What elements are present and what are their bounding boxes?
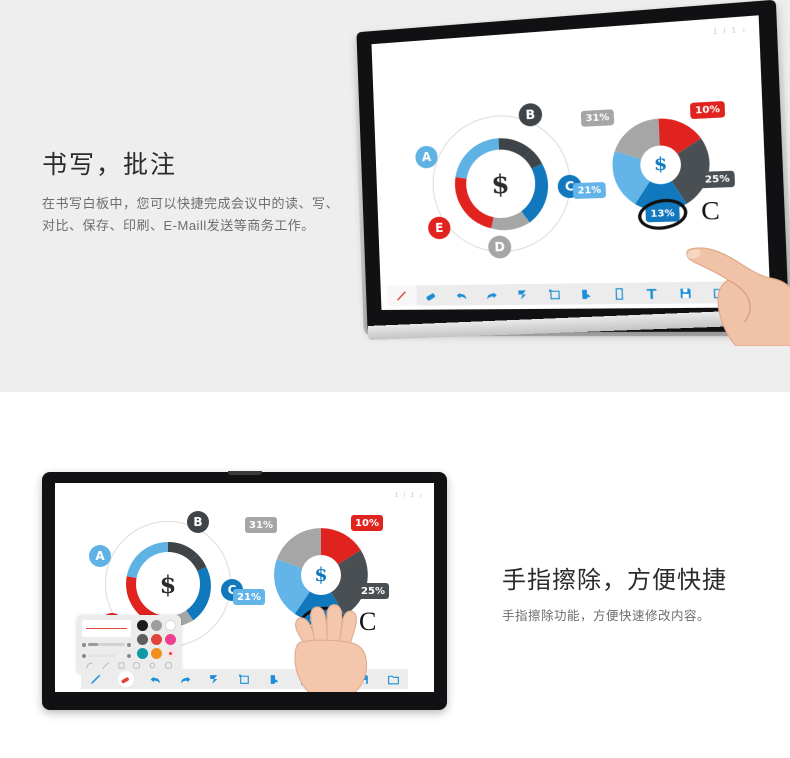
text-tool-top[interactable] [635, 282, 669, 304]
pointing-hand-top [678, 228, 790, 346]
page-current-bottom: 1 [395, 492, 401, 499]
lasso-icon [208, 673, 221, 686]
polygon-icon [547, 287, 561, 301]
page-separator-top: / [723, 27, 728, 35]
shape-tool-top[interactable] [538, 283, 571, 304]
page-current-top: 1 [713, 28, 720, 36]
pen-settings-top-row [77, 615, 181, 661]
eraser-tool-top[interactable] [416, 285, 447, 306]
color-swatch-orange[interactable] [151, 648, 162, 659]
redo-icon [485, 288, 499, 302]
eraser-icon [120, 674, 131, 685]
pen-tool-bottom[interactable] [81, 669, 111, 689]
whiteboard-canvas-bottom[interactable]: 1 / 1 › [55, 483, 434, 692]
pie-label-31-bottom: 31% [245, 517, 277, 533]
pie-label-10-top: 10% [690, 101, 725, 119]
color-swatch-gray[interactable] [151, 620, 162, 631]
shape-tool-bottom[interactable] [230, 669, 260, 689]
section-body-writing-line1: 在书写白板中，您可以快捷完成会议中的读、写、 [42, 193, 339, 215]
page-separator-bottom: / [403, 492, 407, 499]
next-page-chevron-icon-bottom[interactable]: › [419, 491, 424, 500]
pie-label-10-bottom: 10% [351, 515, 383, 531]
stroke-width-slider-end [127, 643, 131, 647]
page-total-top: 1 [731, 27, 738, 35]
pie-label-21-top: 21% [573, 182, 606, 199]
lasso-icon [516, 288, 530, 302]
donut-badge-b-bottom: B [187, 511, 209, 533]
donut-badge-d-top: D [488, 235, 512, 258]
stroke-width-slider[interactable] [82, 641, 131, 648]
section-body-writing-line2: 对比、保存、印刷、E-Maill发送等商务工作。 [42, 215, 339, 237]
interactive-display-bottom: 1 / 1 › [42, 472, 447, 710]
pen-tool-top[interactable] [386, 285, 416, 306]
section-finger-erase: 手指擦除，方便快捷 手指擦除功能，方便快速修改内容。 1 / 1 › [0, 392, 790, 758]
page-root: 书写，批注 在书写白板中，您可以快捷完成会议中的读、写、 对比、保存、印刷、E-… [0, 0, 790, 758]
pen-icon [395, 289, 408, 302]
undo-icon [149, 673, 162, 686]
fill-tool-top[interactable] [570, 283, 603, 304]
pie-center-dollar-bottom: $ [301, 555, 341, 595]
page-indicator-top: 1 / 1 › [713, 25, 748, 37]
display-screen-bottom[interactable]: 1 / 1 › [55, 483, 434, 692]
stroke-preview-line [86, 628, 127, 630]
pen-icon [89, 673, 102, 686]
section-title-erase: 手指擦除，方便快捷 [502, 560, 727, 595]
color-swatch-grid[interactable] [136, 620, 176, 659]
section-writing-annotation: 书写，批注 在书写白板中，您可以快捷完成会议中的读、写、 对比、保存、印刷、E-… [0, 0, 790, 392]
pie-label-25-top: 25% [700, 171, 735, 189]
stroke-opacity-slider[interactable] [82, 652, 131, 659]
color-swatch-light-pink[interactable] [165, 648, 176, 659]
lasso-tool-bottom[interactable] [200, 669, 230, 689]
camera-notch-icon [228, 471, 262, 475]
stroke-width-slider-knob[interactable] [82, 643, 86, 647]
stroke-opacity-slider-knob[interactable] [82, 654, 86, 658]
chart-pie-percent-top: $ 10% 25% 13% 21% 31% C [610, 115, 713, 214]
color-swatch-teal[interactable] [137, 648, 148, 659]
section-body-erase: 手指擦除功能，方便快速修改内容。 [502, 605, 727, 627]
section-body-erase-line1: 手指擦除功能，方便快速修改内容。 [502, 605, 727, 627]
pie-label-21-bottom: 21% [233, 589, 265, 605]
pen-settings-controls [82, 620, 131, 659]
color-swatch-black[interactable] [137, 620, 148, 631]
color-swatch-dark-gray[interactable] [137, 634, 148, 645]
undo-tool-top[interactable] [446, 285, 477, 306]
pie-label-31-top: 31% [581, 109, 614, 127]
section-title-writing: 书写，批注 [42, 145, 339, 181]
lasso-tool-top[interactable] [507, 284, 539, 305]
color-swatch-white[interactable] [165, 620, 176, 631]
chart-donut-abcde-top: $ B C D E A [430, 112, 573, 254]
stroke-opacity-slider-end [127, 654, 131, 658]
eraser-icon [424, 289, 438, 302]
fill-icon [579, 287, 594, 301]
color-swatch-red[interactable] [151, 634, 162, 645]
copy-block-erase: 手指擦除，方便快捷 手指擦除功能，方便快速修改内容。 [502, 560, 727, 627]
section-body-writing: 在书写白板中，您可以快捷完成会议中的读、写、 对比、保存、印刷、E-Maill发… [42, 193, 339, 237]
stroke-opacity-slider-fill [88, 654, 116, 657]
donut-center-dollar-bottom: $ [136, 552, 200, 616]
redo-tool-top[interactable] [476, 284, 508, 305]
polygon-icon [238, 673, 251, 686]
stroke-preview [82, 620, 131, 637]
donut-badge-a-bottom: A [89, 545, 111, 567]
stroke-opacity-slider-track[interactable] [88, 654, 125, 657]
page-tool-top[interactable] [602, 283, 636, 305]
stroke-width-slider-track[interactable] [88, 643, 125, 646]
page-total-bottom: 1 [410, 492, 416, 499]
redo-icon [179, 673, 192, 686]
undo-icon [454, 288, 468, 301]
color-swatch-pink[interactable] [165, 634, 176, 645]
eraser-active-chip [118, 671, 134, 687]
eraser-tool-bottom[interactable] [111, 669, 141, 689]
pen-settings-panel[interactable] [77, 615, 181, 673]
page-icon [612, 286, 627, 300]
erasing-hand-bottom [277, 595, 389, 692]
page-indicator-bottom: 1 / 1 › [395, 491, 424, 500]
text-icon [645, 286, 660, 300]
ink-annotation-letter-top: C [701, 197, 721, 227]
next-page-chevron-icon-top[interactable]: › [742, 25, 748, 35]
stroke-width-slider-fill [88, 643, 98, 646]
copy-block-writing: 书写，批注 在书写白板中，您可以快捷完成会议中的读、写、 对比、保存、印刷、E-… [42, 145, 339, 237]
redo-tool-bottom[interactable] [170, 669, 200, 689]
undo-tool-bottom[interactable] [140, 669, 170, 689]
